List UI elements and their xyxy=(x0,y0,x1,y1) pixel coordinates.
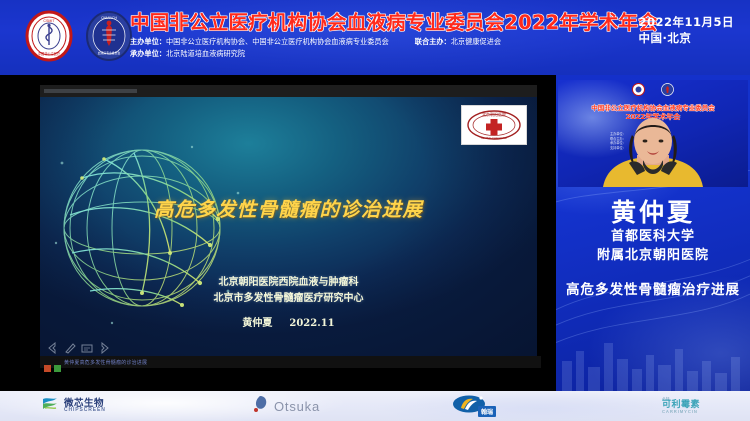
organizer-line: 主办单位：中国非公立医疗机构协会、中国非公立医疗机构协会血液病专业委员会联合主办… xyxy=(130,36,615,48)
event-location: 中国·北京 xyxy=(638,30,734,46)
sponsor-hanrui: 翰瑞 xyxy=(452,394,508,418)
speaker-name: 黄仲夏 xyxy=(556,193,750,229)
carrimycin-en-name: CARRIMYCIN xyxy=(662,410,700,414)
svg-text:血液病专业委员会: 血液病专业委员会 xyxy=(98,51,121,55)
speaker-affiliation-line-1: 首都医科大学 xyxy=(556,227,750,246)
powerpoint-icon[interactable] xyxy=(44,359,51,366)
svg-text:北京朝阳医院: 北京朝阳医院 xyxy=(482,111,506,117)
otsuka-wordmark: Otsuka xyxy=(274,399,320,414)
presentation-slide[interactable]: 北京朝阳医院 BEIJING CHAOYANG 高危多发性骨髓瘤的诊治进展 北京… xyxy=(40,97,537,356)
city-skyline-decoration xyxy=(556,331,750,391)
cohost-label: 联合主办： xyxy=(415,37,451,46)
footer-sheen xyxy=(0,391,750,421)
undertaker-label: 承办单位： xyxy=(130,49,166,58)
slide-byline: 黄仲夏2022.11 xyxy=(40,314,537,329)
hospital-logo: 北京朝阳医院 BEIJING CHAOYANG xyxy=(461,105,527,145)
pen-tool-icon[interactable] xyxy=(63,342,77,354)
speaker-info-panel: 中国非公立医疗机构协会血液病专业委员会 2022年学术年会 主办单位：联合主办：… xyxy=(556,75,750,391)
next-slide-icon[interactable] xyxy=(97,342,111,354)
shared-screen-region[interactable]: 北京朝阳医院 BEIJING CHAOYANG 高危多发性骨髓瘤的诊治进展 北京… xyxy=(40,85,537,368)
slide-subtitle-line-2: 北京市多发性骨髓瘤医疗研究中心 xyxy=(40,291,537,307)
slide-author: 黄仲夏 xyxy=(242,318,272,329)
sponsor-chipscreen: 微芯生物 CHIPSCREEN xyxy=(40,394,106,418)
organizer-value: 中国非公立医疗机构协会、中国非公立医疗机构协会血液病专业委员会 xyxy=(166,37,389,46)
cohost-value: 北京健康促进会 xyxy=(451,37,501,46)
header-text-block: 中国非公立医疗机构协会血液病专业委员会2022年学术年会 主办单位：中国非公立医… xyxy=(130,10,615,59)
sponsor-carrimycin: 必特 可利霉素 CARRIMYCIN xyxy=(662,394,700,418)
sponsor-footer-bar: 微芯生物 CHIPSCREEN Otsuka xyxy=(0,391,750,421)
speaker-video-feed[interactable]: 中国非公立医疗机构协会血液病专业委员会 2022年学术年会 主办单位：联合主办：… xyxy=(558,80,748,187)
slideshow-nav-controls[interactable] xyxy=(46,342,111,354)
slide-date: 2022.11 xyxy=(289,318,334,329)
video-csmit-emblem-icon xyxy=(632,83,645,96)
event-date-block: 2022年11月5日 中国·北京 xyxy=(638,14,734,46)
slide-title: 高危多发性骨髓瘤的诊治进展 xyxy=(40,193,537,222)
chipscreen-logo-icon xyxy=(40,395,60,418)
event-date: 2022年11月5日 xyxy=(638,14,734,30)
svg-text:BEIJING CHAOYANG: BEIJING CHAOYANG xyxy=(481,136,506,140)
svg-text:中国非公立医疗: 中国非公立医疗 xyxy=(38,51,61,56)
otsuka-logo-icon xyxy=(250,394,270,419)
undertaker-line: 承办单位：北京陆道培血液病研究院 xyxy=(130,48,615,60)
conference-title: 中国非公立医疗机构协会血液病专业委员会2022年学术年会 xyxy=(130,10,615,36)
slide-subtitle-line-1: 北京朝阳医院西院血液与肿瘤科 xyxy=(40,275,537,291)
video-banner-title: 中国非公立医疗机构协会血液病专业委员会 xyxy=(591,102,715,112)
prev-slide-icon[interactable] xyxy=(46,342,60,354)
video-banner-emblems xyxy=(632,83,674,96)
slide-menu-icon[interactable] xyxy=(80,342,94,354)
organizer-label: 主办单位： xyxy=(130,37,166,46)
association-emblems: CSMIT 中国非公立医疗 CNMIACH 血液病专业委员会 xyxy=(22,7,136,65)
taskbar-item-label[interactable]: 黄仲夏高危多发性骨髓瘤的诊治进展 xyxy=(64,359,147,366)
carrimycin-text: 必特 可利霉素 CARRIMYCIN xyxy=(662,398,700,415)
webinar-broadcast-screen: CSMIT 中国非公立医疗 CNMIACH 血液病专业委员会 中国非公立医疗机构… xyxy=(0,0,750,421)
speaker-affiliation-line-2: 附属北京朝阳医院 xyxy=(556,246,750,265)
conference-header-banner: CSMIT 中国非公立医疗 CNMIACH 血液病专业委员会 中国非公立医疗机构… xyxy=(0,0,750,75)
os-taskbar[interactable]: 黄仲夏高危多发性骨髓瘤的诊治进展 xyxy=(40,356,541,368)
speaker-affiliation: 首都医科大学 附属北京朝阳医院 xyxy=(556,227,750,265)
speaker-portrait xyxy=(593,115,713,187)
hanrui-cn-name: 翰瑞 xyxy=(478,406,496,417)
chipscreen-text: 微芯生物 CHIPSCREEN xyxy=(64,399,106,414)
broadcast-stage: 北京朝阳医院 BEIJING CHAOYANG 高危多发性骨髓瘤的诊治进展 北京… xyxy=(0,75,750,391)
csmit-emblem-icon: CSMIT 中国非公立医疗 xyxy=(22,7,76,65)
sponsor-otsuka: Otsuka xyxy=(250,394,320,418)
undertaker-value: 北京陆道培血液病研究院 xyxy=(166,49,245,58)
slide-subtitle: 北京朝阳医院西院血液与肿瘤科 北京市多发性骨髓瘤医疗研究中心 xyxy=(40,275,537,307)
cnmiach-emblem-icon: CNMIACH 血液病专业委员会 xyxy=(82,7,136,65)
video-cnmiach-emblem-icon xyxy=(661,83,674,96)
chipscreen-en-name: CHIPSCREEN xyxy=(64,408,106,413)
svg-text:CSMIT: CSMIT xyxy=(43,19,55,23)
speaker-topic: 高危多发性骨髓瘤治疗进展 xyxy=(556,278,750,298)
app-icon[interactable] xyxy=(54,359,61,366)
svg-text:CNMIACH: CNMIACH xyxy=(101,16,117,20)
